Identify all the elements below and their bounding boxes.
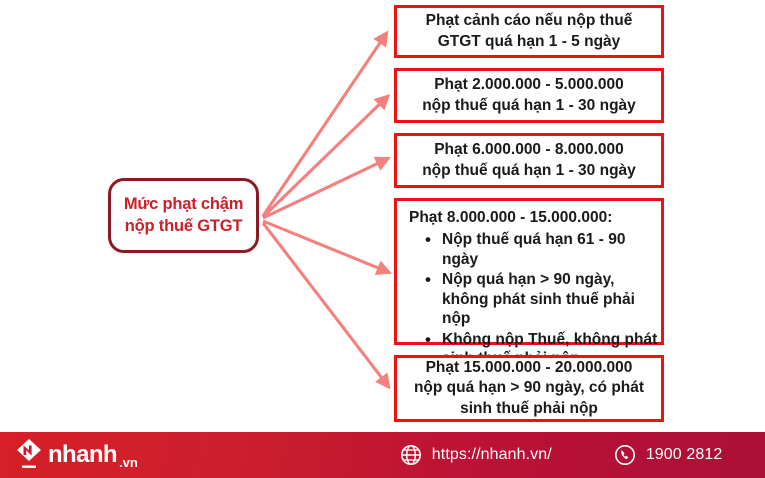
phone-circle-icon <box>614 444 636 466</box>
penalty-box-2: Phạt 2.000.000 - 5.000.000 nộp thuế quá … <box>394 68 664 123</box>
footer-url-text: https://nhanh.vn/ <box>432 446 552 464</box>
penalty-box-1: Phạt cảnh cáo nếu nộp thuế GTGT quá hạn … <box>394 5 664 58</box>
arrow-to-box-4 <box>263 221 388 272</box>
infographic-canvas: Mức phạt chậm nộp thuế GTGT Phạt cảnh cá… <box>0 0 765 478</box>
penalty-box-2-line-1: Phạt 2.000.000 - 5.000.000 <box>434 75 624 95</box>
arrow-to-box-3 <box>263 159 387 218</box>
penalty-box-3-line-1: Phạt 6.000.000 - 8.000.000 <box>434 140 624 160</box>
penalty-box-2-line-2: nộp thuế quá hạn 1 - 30 ngày <box>422 96 636 116</box>
center-node-line-2: nộp thuế GTGT <box>125 216 242 237</box>
penalty-box-4: Phạt 8.000.000 - 15.000.000: Nộp thuế qu… <box>394 198 664 345</box>
penalty-box-5: Phạt 15.000.000 - 20.000.000 nộp quá hạn… <box>394 355 664 422</box>
center-node-line-1: Mức phạt chậm <box>124 194 243 215</box>
nhanh-diamond-logo-icon <box>14 438 44 472</box>
globe-icon <box>400 444 422 466</box>
footer-phone-text: 1900 2812 <box>646 446 723 464</box>
penalty-box-1-line-1: Phạt cảnh cáo nếu nộp thuế <box>426 11 633 31</box>
penalty-box-4-heading: Phạt 8.000.000 - 15.000.000: <box>397 208 661 228</box>
penalty-box-5-line-3: sinh thuế phải nộp <box>460 399 598 419</box>
arrow-to-box-1 <box>263 34 386 216</box>
brand-tld: .vn <box>119 456 138 469</box>
list-item: Nộp quá hạn > 90 ngày, không phát sinh t… <box>397 270 661 329</box>
arrow-to-box-5 <box>263 223 388 386</box>
penalty-box-5-line-2: nộp quá hạn > 90 ngày, có phát <box>414 378 644 398</box>
penalty-box-3: Phạt 6.000.000 - 8.000.000 nộp thuế quá … <box>394 133 664 188</box>
penalty-box-4-bullet-list: Nộp thuế quá hạn 61 - 90 ngày Nộp quá hạ… <box>397 229 661 369</box>
center-node: Mức phạt chậm nộp thuế GTGT <box>108 178 259 253</box>
penalty-box-5-line-1: Phạt 15.000.000 - 20.000.000 <box>426 358 633 378</box>
penalty-box-1-line-2: GTGT quá hạn 1 - 5 ngày <box>438 32 621 52</box>
list-item: Nộp thuế quá hạn 61 - 90 ngày <box>397 230 661 269</box>
footer-phone-item[interactable]: 1900 2812 <box>614 444 723 466</box>
brand-name: nhanh <box>48 443 117 467</box>
brand-logo[interactable]: nhanh .vn <box>14 438 138 472</box>
arrow-to-box-2 <box>263 97 387 217</box>
footer-url-item[interactable]: https://nhanh.vn/ <box>400 444 552 466</box>
penalty-box-3-line-2: nộp thuế quá hạn 1 - 30 ngày <box>422 161 636 181</box>
footer-bar: nhanh .vn https://nhanh.vn/ 1900 2812 <box>0 432 765 478</box>
